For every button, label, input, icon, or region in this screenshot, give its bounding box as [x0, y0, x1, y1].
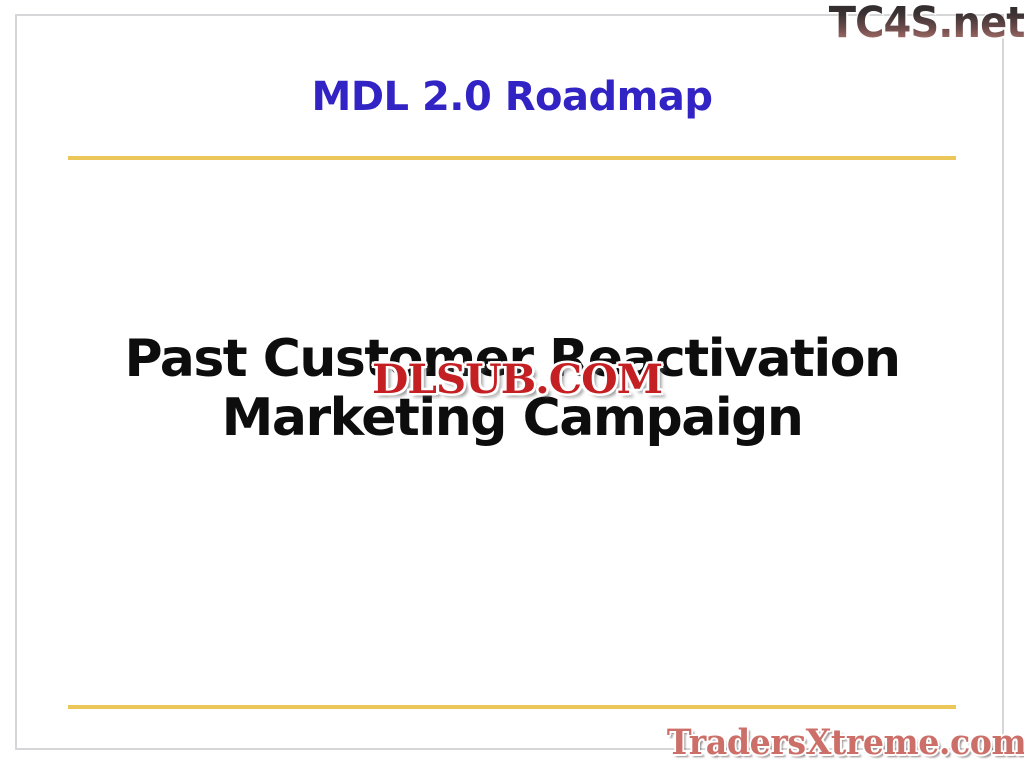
watermark-dlsub: DLSUB.COM [372, 360, 662, 400]
gold-divider-bottom [68, 705, 956, 709]
slide-title: MDL 2.0 Roadmap [68, 74, 956, 120]
watermark-tradersxtreme: TradersXtreme.com [667, 725, 1024, 760]
watermark-tc4s: TC4S.net [828, 2, 1024, 45]
gold-divider-top [68, 156, 956, 160]
slide-canvas: MDL 2.0 Roadmap Past Customer Reactivati… [0, 0, 1024, 768]
